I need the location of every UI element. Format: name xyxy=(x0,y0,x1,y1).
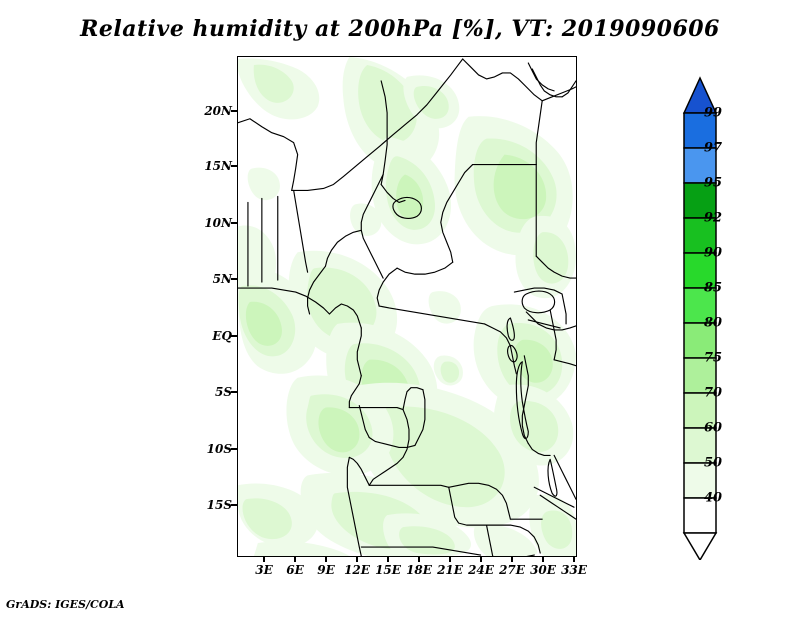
y-tick-mark xyxy=(231,222,237,224)
x-tick-mark xyxy=(325,556,327,562)
x-tick-mark xyxy=(418,556,420,562)
colorbar-label-75: 75 xyxy=(704,351,722,366)
y-tick-mark xyxy=(231,335,237,337)
y-tick-mark xyxy=(231,165,237,167)
page-title: Relative humidity at 200hPa [%], VT: 201… xyxy=(0,16,800,42)
x-tick-mark xyxy=(387,556,389,562)
y-tick-mark xyxy=(231,110,237,112)
x-tick-mark xyxy=(511,556,513,562)
x-tick-mark xyxy=(480,556,482,562)
map-plot-area: .c50{fill:#eefbe9} .c60{fill:#ddf8d2} .c… xyxy=(237,56,577,557)
coastline-border-layer xyxy=(238,57,576,556)
y-tick-mark xyxy=(231,391,237,393)
y-tick-label-15S: 15S xyxy=(186,498,232,512)
colorbar: 99 97 95 92 90 85 80 75 70 60 50 40 xyxy=(672,60,792,560)
y-tick-label-EQ: EQ xyxy=(186,329,232,343)
x-tick-mark xyxy=(263,556,265,562)
x-tick-mark xyxy=(573,556,575,562)
y-tick-mark xyxy=(231,448,237,450)
x-tick-mark xyxy=(542,556,544,562)
credit-text: GrADS: IGES/COLA xyxy=(6,598,125,611)
colorbar-label-40: 40 xyxy=(704,491,722,506)
x-tick-label-33E: 33E xyxy=(554,563,594,577)
colorbar-label-95: 95 xyxy=(704,176,722,191)
y-tick-label-5S: 5S xyxy=(186,385,232,399)
colorbar-label-60: 60 xyxy=(704,421,722,436)
colorbar-label-50: 50 xyxy=(704,456,722,471)
x-tick-mark xyxy=(449,556,451,562)
y-tick-label-5N: 5N xyxy=(186,272,232,286)
y-tick-label-10S: 10S xyxy=(186,442,232,456)
y-tick-label-15N: 15N xyxy=(186,159,232,173)
colorbar-label-70: 70 xyxy=(704,386,722,401)
colorbar-label-90: 90 xyxy=(704,246,722,261)
y-tick-label-10N: 10N xyxy=(186,216,232,230)
colorbar-swatches xyxy=(672,60,792,560)
x-tick-mark xyxy=(356,556,358,562)
colorbar-label-99: 99 xyxy=(704,106,722,121)
y-tick-label-20N: 20N xyxy=(186,104,232,118)
y-tick-mark xyxy=(231,278,237,280)
colorbar-label-80: 80 xyxy=(704,316,722,331)
x-tick-mark xyxy=(294,556,296,562)
colorbar-label-85: 85 xyxy=(704,281,722,296)
y-tick-mark xyxy=(231,504,237,506)
colorbar-label-92: 92 xyxy=(704,211,722,226)
colorbar-label-97: 97 xyxy=(704,141,722,156)
